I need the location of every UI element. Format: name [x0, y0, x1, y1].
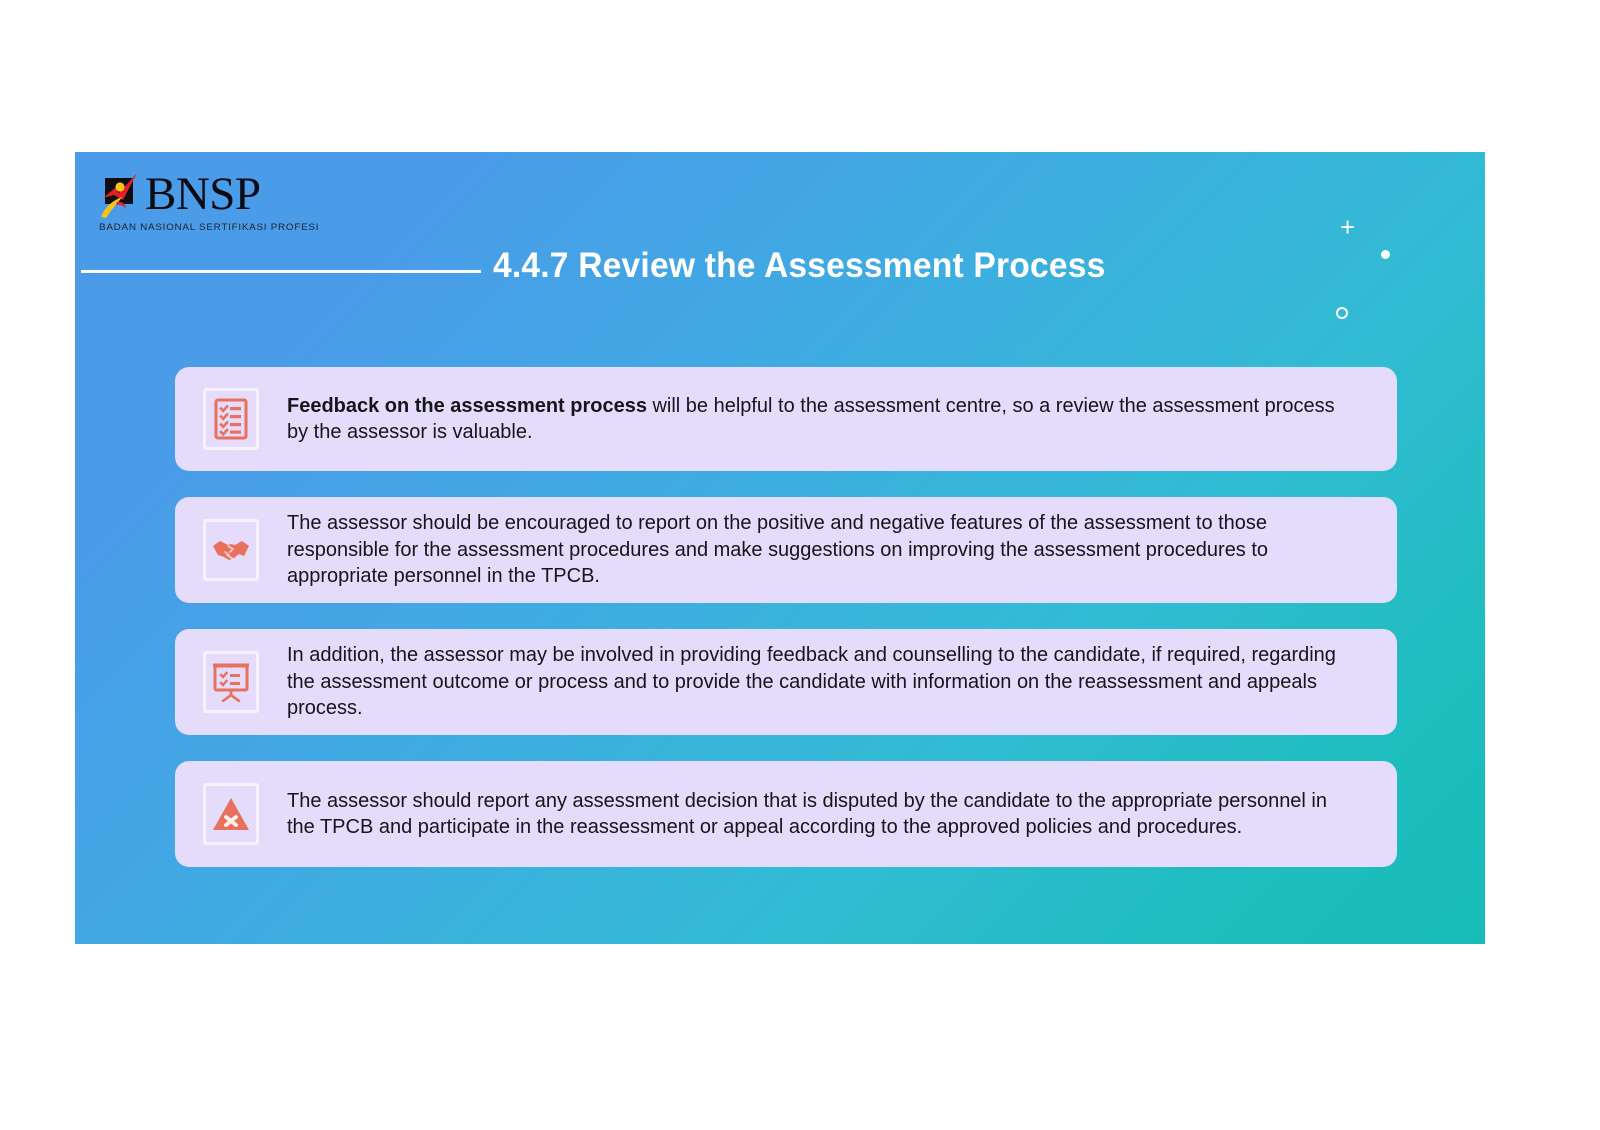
presentation-board-checklist-icon: [203, 651, 259, 713]
card-text-body: The assessor should be encouraged to rep…: [287, 511, 1268, 587]
card-text: Feedback on the assessment process will …: [287, 387, 1348, 452]
logo-tagline: BADAN NASIONAL SERTIFIKASI PROFESI: [99, 222, 319, 233]
list-item: In addition, the assessor may be involve…: [175, 629, 1397, 735]
card-text-body: The assessor should report any assessmen…: [287, 789, 1327, 839]
handshake-icon: [203, 519, 259, 581]
list-item: Feedback on the assessment process will …: [175, 367, 1397, 471]
card-text: The assessor should report any assessmen…: [287, 782, 1348, 847]
card-icon-container: [175, 519, 287, 581]
list-item: The assessor should be encouraged to rep…: [175, 497, 1397, 603]
card-text: In addition, the assessor may be involve…: [287, 636, 1348, 728]
card-icon-container: [175, 388, 287, 450]
plus-icon: +: [1340, 214, 1355, 240]
slide-canvas: BNSP BADAN NASIONAL SERTIFIKASI PROFESI …: [75, 152, 1485, 944]
open-circle-icon: [1336, 307, 1348, 319]
list-item: The assessor should report any assessmen…: [175, 761, 1397, 867]
card-text: The assessor should be encouraged to rep…: [287, 504, 1348, 596]
title-divider-rule: [81, 270, 481, 273]
warning-triangle-x-icon: [203, 783, 259, 845]
logo-wordmark: BNSP: [145, 168, 261, 220]
page-title: 4.4.7 Review the Assessment Process: [493, 246, 1280, 286]
card-text-bold-lead: Feedback on the assessment process: [287, 394, 647, 417]
card-icon-container: [175, 651, 287, 713]
filled-dot-icon: [1381, 250, 1390, 259]
content-card-list: Feedback on the assessment process will …: [175, 367, 1397, 893]
checklist-clipboard-icon: [203, 388, 259, 450]
card-text-body: In addition, the assessor may be involve…: [287, 643, 1336, 719]
bnsp-person-checkmark-icon: [97, 172, 145, 220]
bnsp-logo: BNSP BADAN NASIONAL SERTIFIKASI PROFESI: [97, 168, 307, 246]
card-icon-container: [175, 783, 287, 845]
